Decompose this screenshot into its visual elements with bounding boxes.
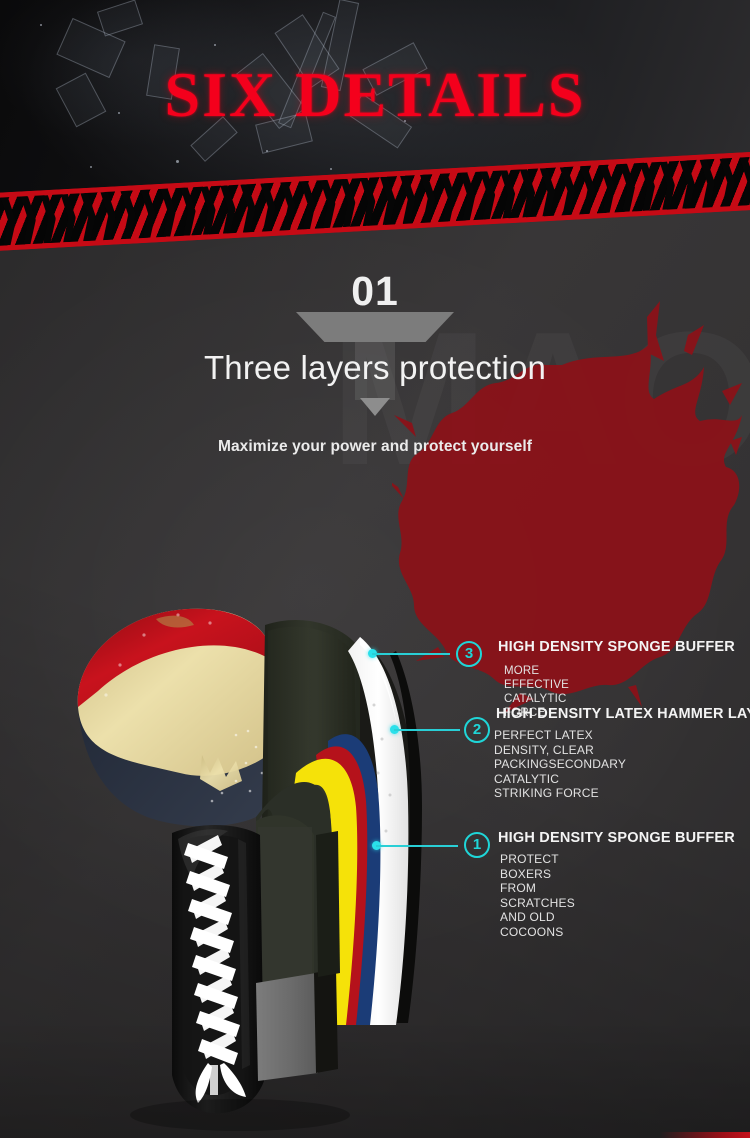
callout-1-title: HIGH DENSITY SPONGE BUFFER bbox=[498, 830, 735, 846]
callout-2-body: PERFECT LATEX DENSITY, CLEAR PACKINGSECO… bbox=[494, 728, 626, 801]
glass-shard bbox=[97, 0, 143, 37]
callout-3-line bbox=[372, 653, 450, 655]
glove-wrist-strap bbox=[256, 973, 318, 1081]
callout-3-title: HIGH DENSITY SPONGE BUFFER bbox=[498, 639, 735, 655]
bottom-red-edge bbox=[660, 1132, 750, 1138]
glass-spark bbox=[90, 166, 92, 168]
section-number: 01 bbox=[0, 268, 750, 315]
product-detail-page: SIX DETAILS bbox=[0, 0, 750, 1138]
callout-2-number[interactable]: 2 bbox=[464, 717, 490, 743]
callout-3-number[interactable]: 3 bbox=[456, 641, 482, 667]
section-heading: Three layers protection bbox=[0, 349, 750, 387]
glass-spark bbox=[214, 44, 216, 46]
callout-1-line bbox=[376, 845, 458, 847]
boxing-glove-image bbox=[60, 595, 480, 1138]
section-subheading: Maximize your power and protect yourself bbox=[0, 438, 750, 456]
callout-2-title: HIGH DENSITY LATEX HAMMER LAYER bbox=[496, 706, 750, 722]
hero-title: SIX DETAILS bbox=[0, 58, 750, 132]
callout-2-line bbox=[394, 729, 460, 731]
glove-wrist-strap-edge bbox=[314, 969, 338, 1073]
glass-spark bbox=[40, 24, 42, 26]
glove-lower-foam-sheen bbox=[258, 827, 312, 983]
glove-wrist-back bbox=[316, 831, 340, 977]
glass-spark bbox=[266, 150, 268, 152]
callout-1-number[interactable]: 1 bbox=[464, 832, 490, 858]
callout-1-body: PROTECT BOXERS FROM SCRATCHES AND OLD CO… bbox=[500, 852, 575, 939]
triangle-down-icon bbox=[360, 398, 390, 416]
glass-spark bbox=[176, 160, 179, 163]
glove-shadow bbox=[130, 1099, 350, 1131]
